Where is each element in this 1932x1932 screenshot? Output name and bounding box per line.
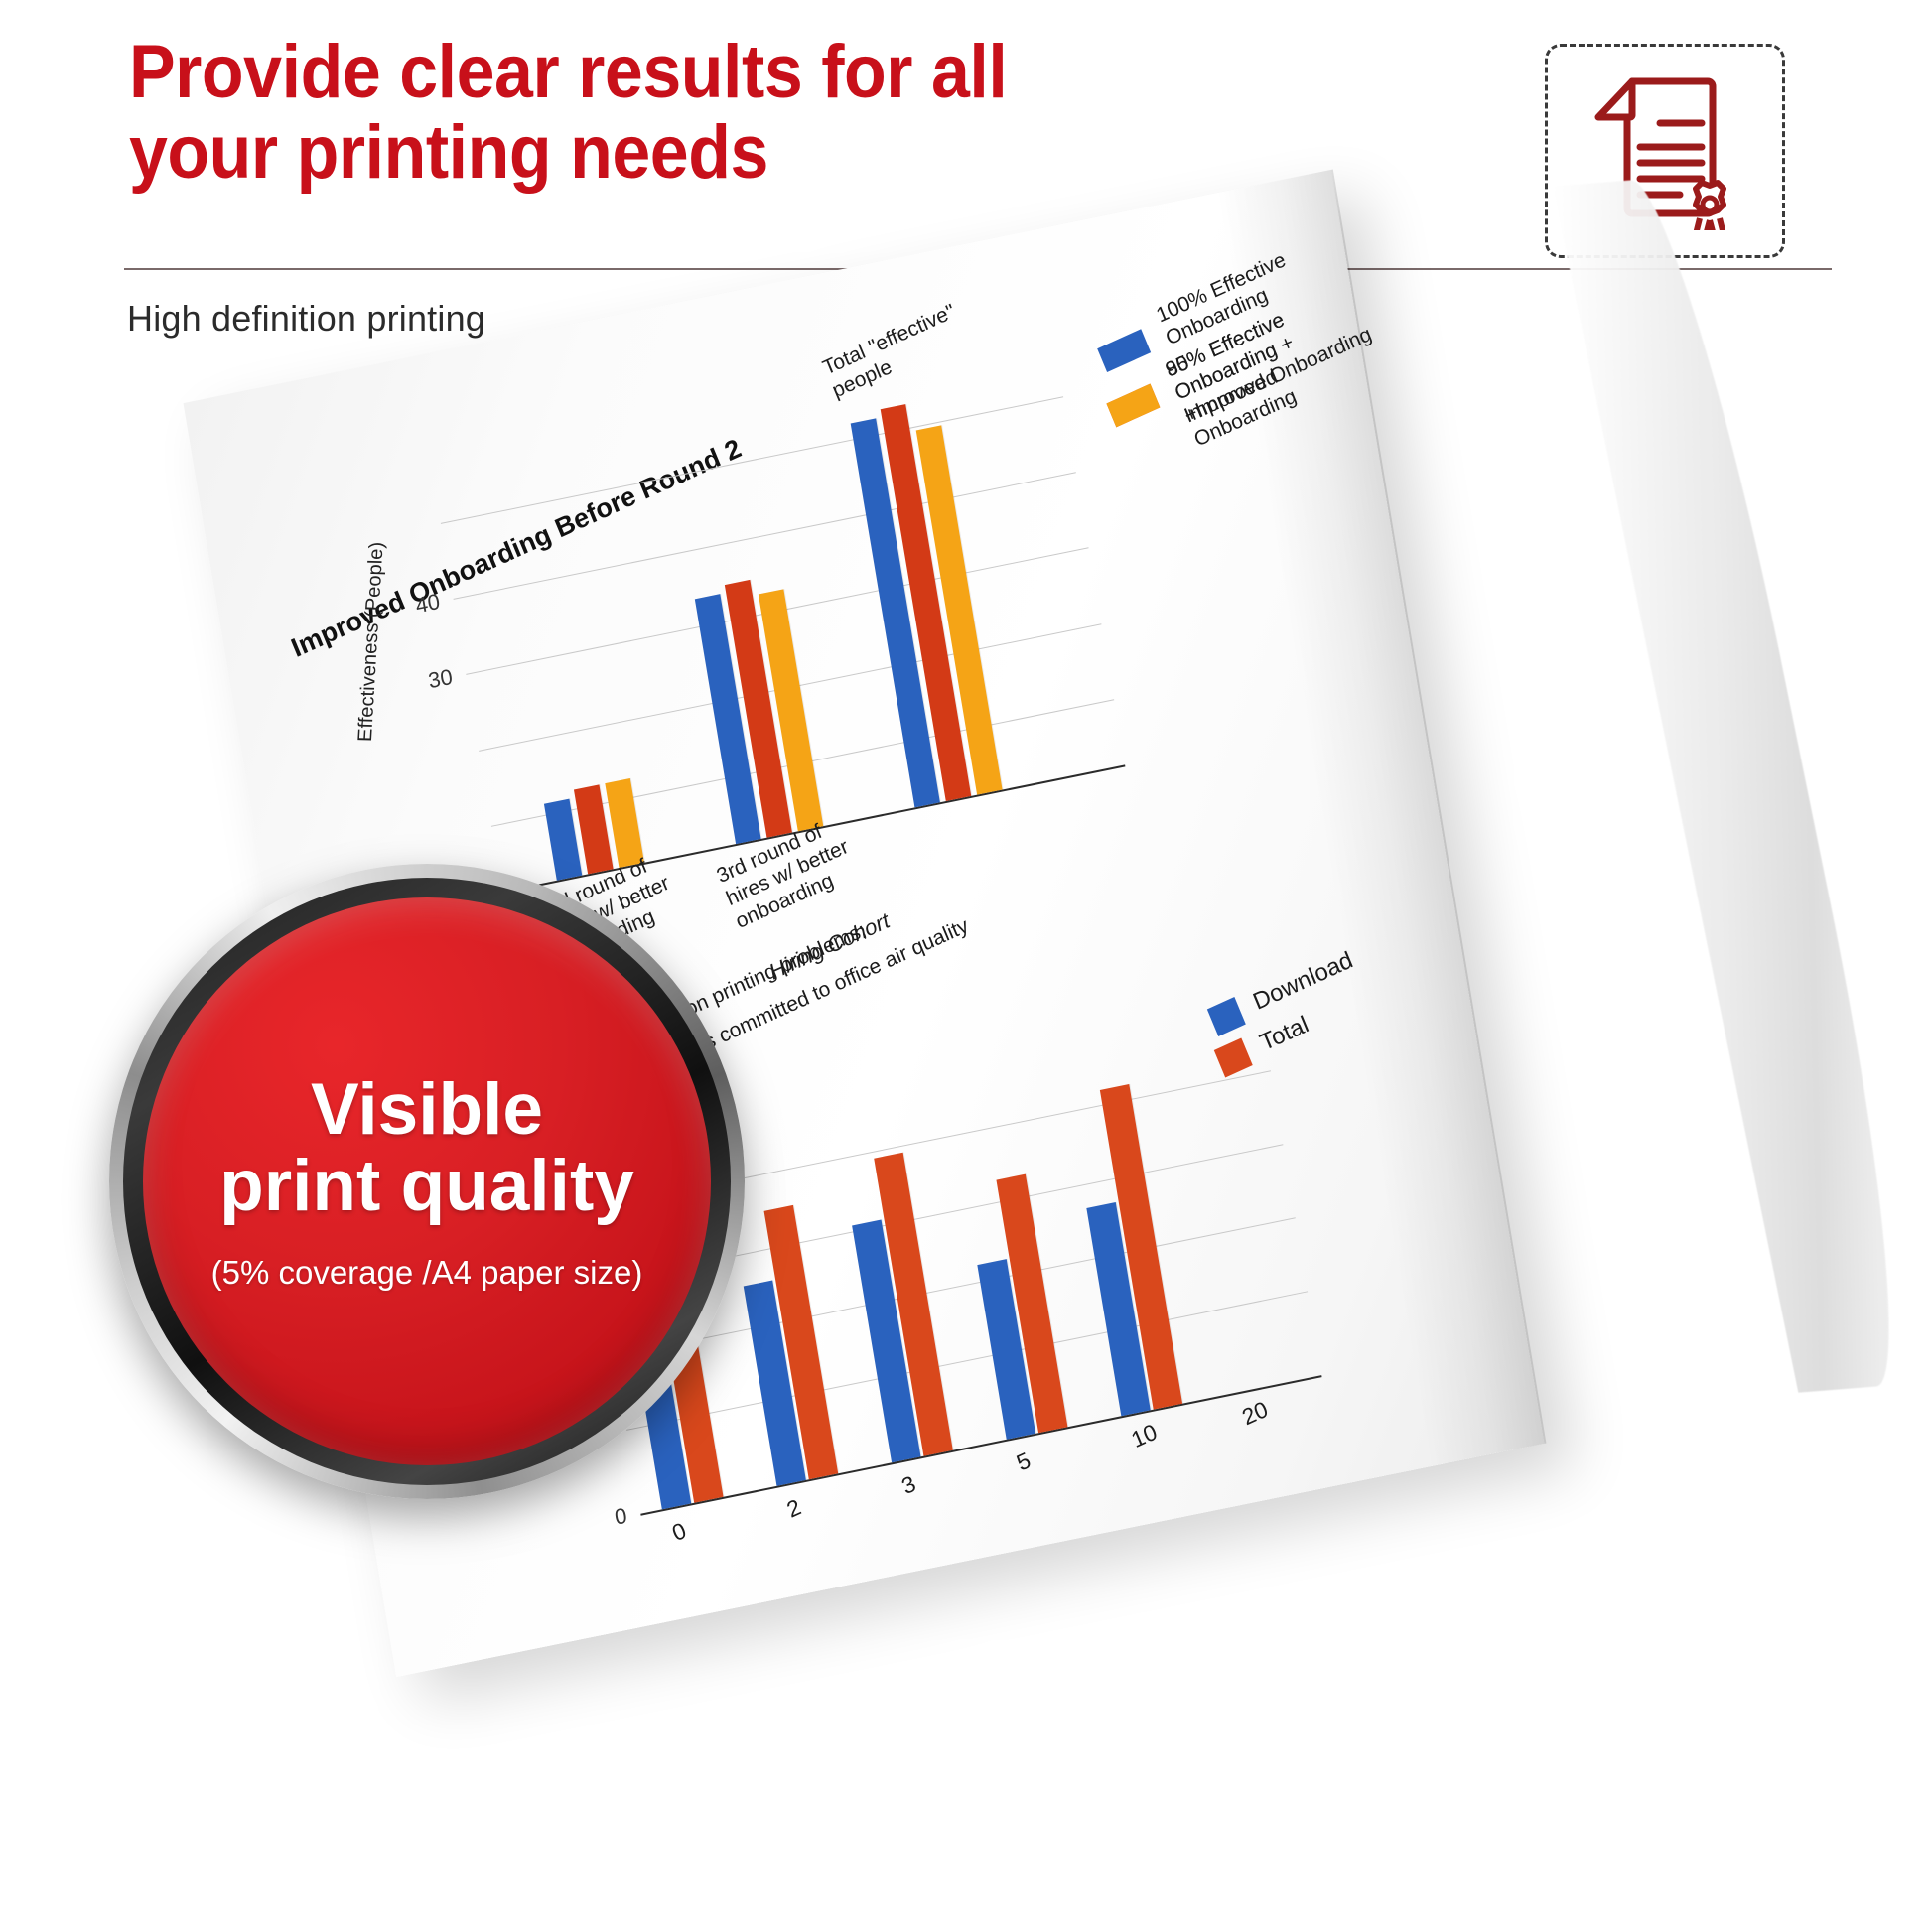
legend-label: 95% Effective Onboarding + Improved Onbo… [1162,273,1382,429]
chart2-xtick: 3 [897,1470,919,1500]
bar-series-3 [759,589,823,831]
chart2-xtick: 5 [1013,1447,1035,1476]
chart1-ytick: 30 [426,664,454,695]
chart1-ytick: 40 [414,589,442,620]
bar-series-1 [851,418,940,807]
chart2-legend: Download Total [1208,999,1222,1081]
legend-item: Download [1208,999,1215,1039]
bar-series-3 [916,425,1003,794]
bar-series-3 [605,778,644,868]
magnifier-title-line-2: print quality [219,1146,634,1226]
legend-label: Total [1256,1011,1312,1057]
chart1-xcat: Total "effective" people [820,297,976,404]
legend-label: Download [1249,947,1357,1017]
subheadline: High definition printing [127,298,485,340]
magnifier-lens: Visible print quality (5% coverage /A4 p… [143,897,711,1465]
headline-line-2: your printing needs [129,112,1207,193]
legend-swatch-blue [1207,997,1246,1036]
legend-label: 100% Effective Onboarding [1153,218,1363,351]
bar-total [996,1174,1067,1434]
legend-swatch-blue [1097,329,1151,372]
legend-label: 80% Effective Onboarding +Improved Onboa… [1162,273,1391,452]
bar-series-1 [695,594,761,844]
certificate-icon-frame [1545,44,1785,258]
magnifier-title: Visible print quality [202,1071,652,1225]
legend-item: 80% Effective Onboarding +Improved Onboa… [1103,313,1395,372]
chart2-xtick: 10 [1128,1419,1162,1453]
magnifier-subtitle: (5% coverage /A4 paper size) [211,1254,643,1292]
legend-swatch-orange [1106,384,1160,428]
bar-download [1086,1202,1150,1416]
legend-item: 95% Effective Onboarding + Improved Onbo… [1103,313,1395,372]
chart2-xtick: 20 [1238,1396,1272,1431]
bar-total [1100,1084,1182,1410]
chart1-legend: 100% Effective Onboarding 95% Effective … [1094,258,1395,372]
bar-series-2 [725,580,792,838]
legend-swatch-red [1214,1038,1253,1078]
certificate-document-icon [1590,71,1739,230]
legend-swatch-red [1106,384,1160,428]
legend-item: Total [1215,1040,1222,1081]
legend-item: 100% Effective Onboarding [1094,258,1386,318]
chart1-y-axis-title: Effectiveness (People) [354,542,389,743]
header-divider [124,268,1832,270]
magnifier-title-line-1: Visible [311,1069,543,1150]
page-headline: Provide clear results for all your print… [129,32,1207,194]
magnifier: Visible print quality (5% coverage /A4 p… [109,864,864,1688]
chart1-title: Improved Onboarding Before Round 2 [287,433,746,664]
marketing-banner: Provide clear results for all your print… [0,0,1932,1932]
bar-series-2 [881,404,972,801]
paper-curl [1553,176,1928,1392]
bar-download [977,1259,1035,1440]
headline-line-1: Provide clear results for all [129,32,1207,112]
bar-series-2 [574,784,614,874]
chart1-plot: 40 30 Effectiveness (People) 2nd round o… [432,345,1125,894]
bar-total [874,1153,953,1456]
